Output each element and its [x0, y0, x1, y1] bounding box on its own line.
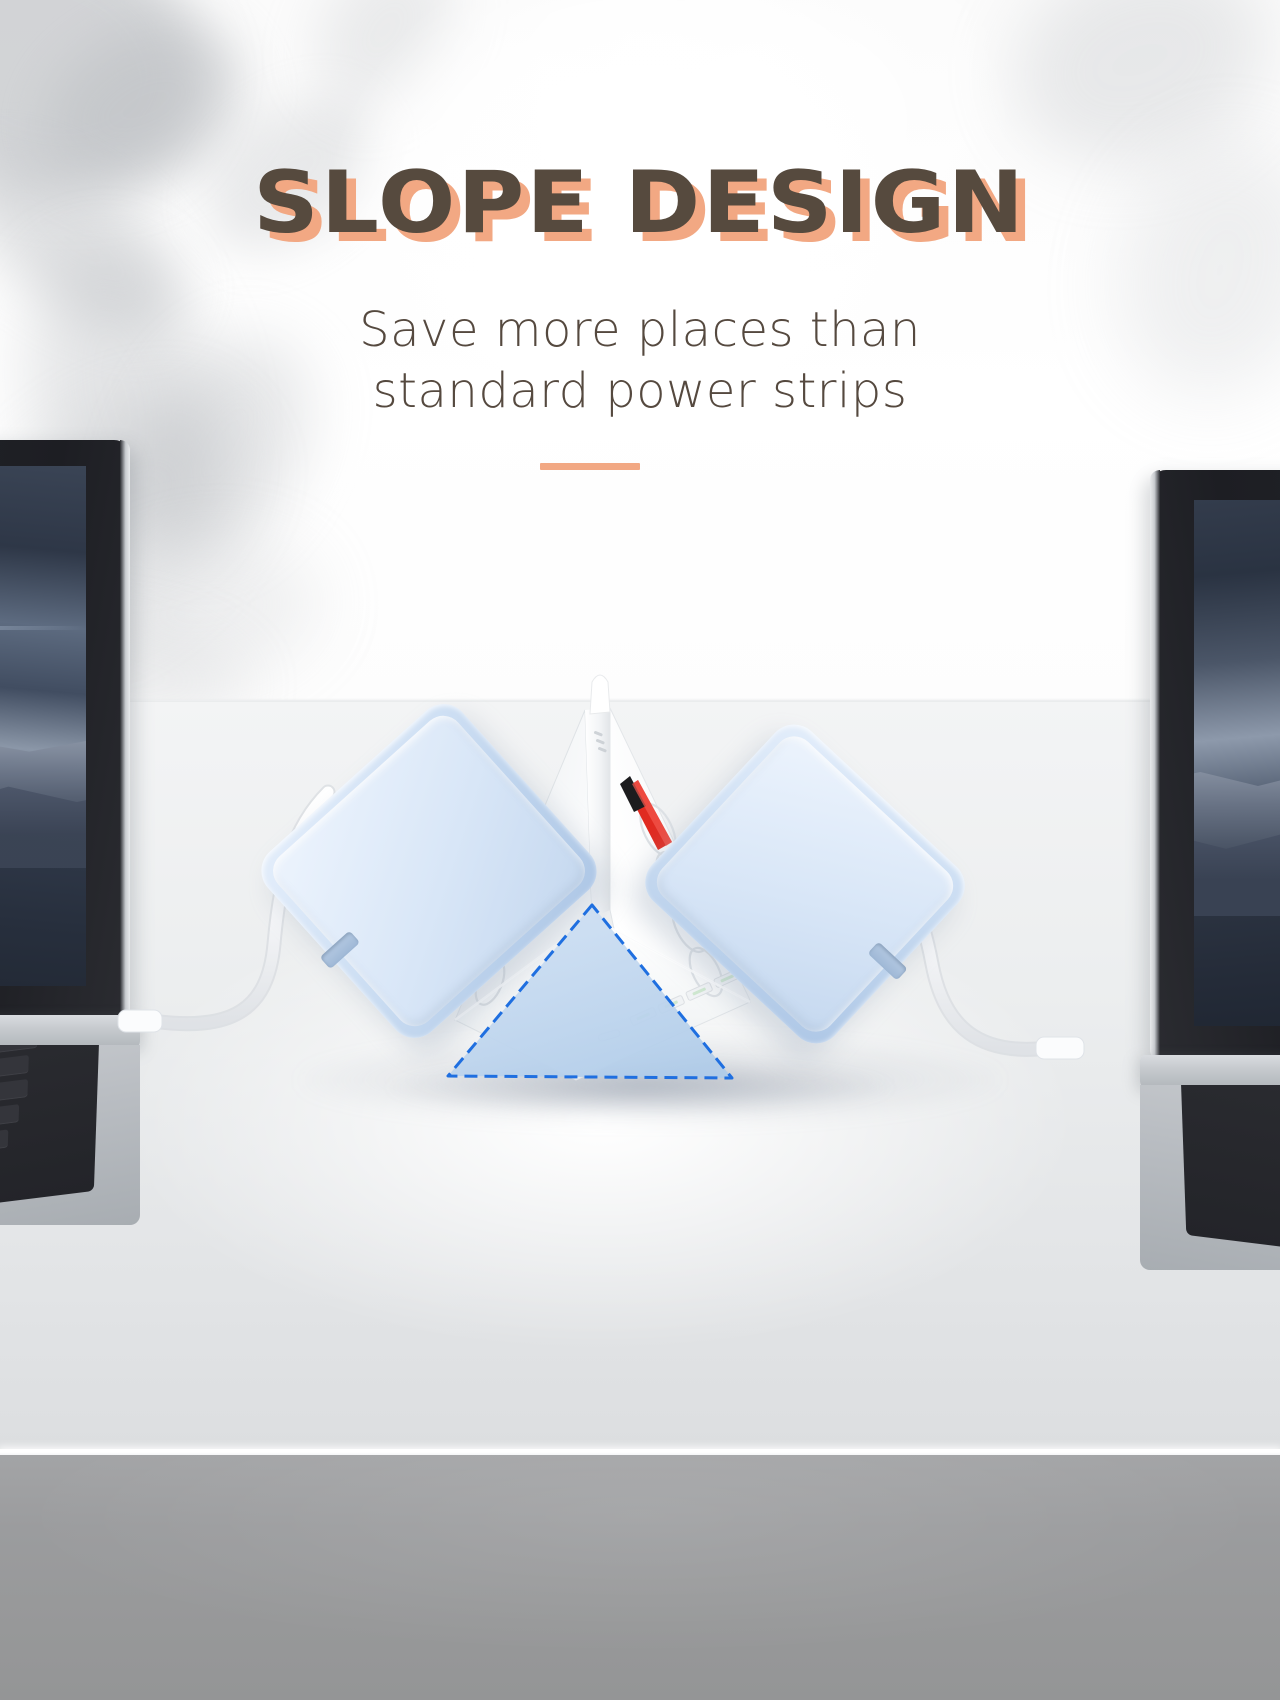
screen-sky-band	[0, 626, 86, 630]
key-shift[interactable]	[0, 1129, 8, 1159]
laptop-right-lid	[1150, 470, 1280, 1060]
laptop-right-keyboard[interactable]: esc tab caps lock shift fn	[1180, 1085, 1280, 1270]
product-banner-stage: SLOPE DESIGN Save more places than stand…	[0, 0, 1280, 1700]
laptop-right-lid-rim	[1150, 470, 1160, 1060]
subtitle-line-1: Save more places than	[0, 300, 1280, 361]
laptop-left-keyboard[interactable]: delete enter return shift	[0, 1045, 100, 1225]
laptop-left-body: delete enter return shift	[0, 1045, 140, 1225]
key-delete[interactable]	[0, 1055, 29, 1082]
key-return[interactable]	[0, 1104, 19, 1133]
desk-front-sheen	[0, 1455, 1280, 1700]
headline-container: SLOPE DESIGN	[0, 160, 1280, 246]
laptop-right: esc tab caps lock shift fn	[1140, 470, 1280, 1250]
laptop-left-lid	[0, 440, 130, 1020]
key[interactable]	[0, 1045, 38, 1055]
subtitle-line-2: standard power strips	[0, 361, 1280, 422]
power-strip-product[interactable]	[280, 660, 1000, 1120]
apex-mast	[590, 675, 610, 714]
laptop-left-screen	[0, 466, 86, 986]
laptop-right-hinge-base	[1140, 1055, 1280, 1089]
subtitle: Save more places than standard power str…	[0, 300, 1280, 423]
laptop-left-lid-rim	[120, 440, 130, 1020]
key-enter[interactable]	[0, 1079, 28, 1106]
laptop-left: delete enter return shift	[0, 440, 140, 1200]
laptop-left-hinge-base	[0, 1015, 140, 1049]
screen-wallpaper-dune-far	[1194, 750, 1280, 850]
laptop-right-screen	[1194, 500, 1280, 1026]
page-title: SLOPE DESIGN	[254, 160, 1027, 246]
accent-divider	[540, 463, 640, 470]
laptop-right-body: esc tab caps lock shift fn	[1140, 1085, 1280, 1270]
